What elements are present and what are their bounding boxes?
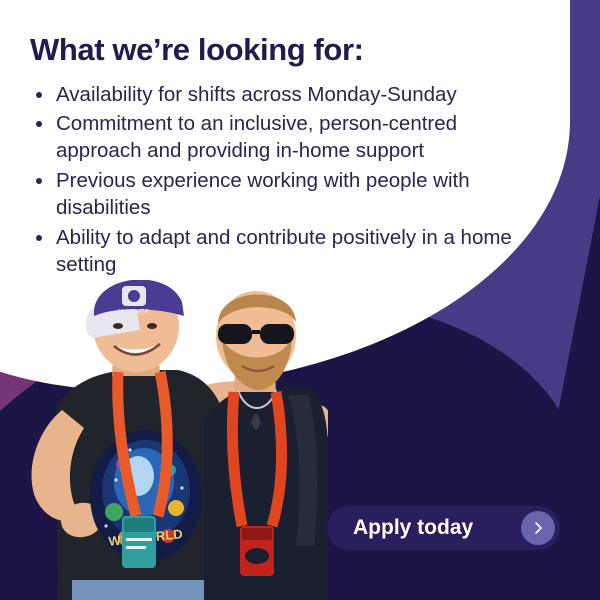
list-item: Availability for shifts across Monday-Su…	[30, 82, 530, 109]
list-item: Commitment to an inclusive, person-centr…	[30, 111, 530, 165]
team-photo: WARNER	[18, 280, 328, 600]
list-item: Previous experience working with people …	[30, 168, 530, 222]
bullet-dot-icon	[36, 235, 42, 241]
recruitment-poster: What we’re looking for: Availability for…	[0, 0, 600, 600]
bullet-dot-icon	[36, 178, 42, 184]
requirement-text: Availability for shifts across Monday-Su…	[56, 83, 457, 106]
requirement-text: Previous experience working with people …	[56, 169, 470, 219]
content-block: What we’re looking for: Availability for…	[30, 32, 530, 282]
requirement-text: Ability to adapt and contribute positive…	[56, 226, 512, 276]
bullet-dot-icon	[36, 92, 42, 98]
page-title: What we’re looking for:	[30, 32, 530, 68]
apply-today-button[interactable]: Apply today	[327, 506, 560, 550]
svg-text:WARNER: WARNER	[119, 309, 150, 316]
requirement-text: Commitment to an inclusive, person-centr…	[56, 112, 457, 162]
bullet-dot-icon	[36, 121, 42, 127]
list-item: Ability to adapt and contribute positive…	[30, 225, 530, 279]
team-photo-illustration: WARNER	[18, 280, 328, 600]
requirements-list: Availability for shifts across Monday-Su…	[30, 82, 530, 279]
chevron-right-icon	[521, 511, 555, 545]
